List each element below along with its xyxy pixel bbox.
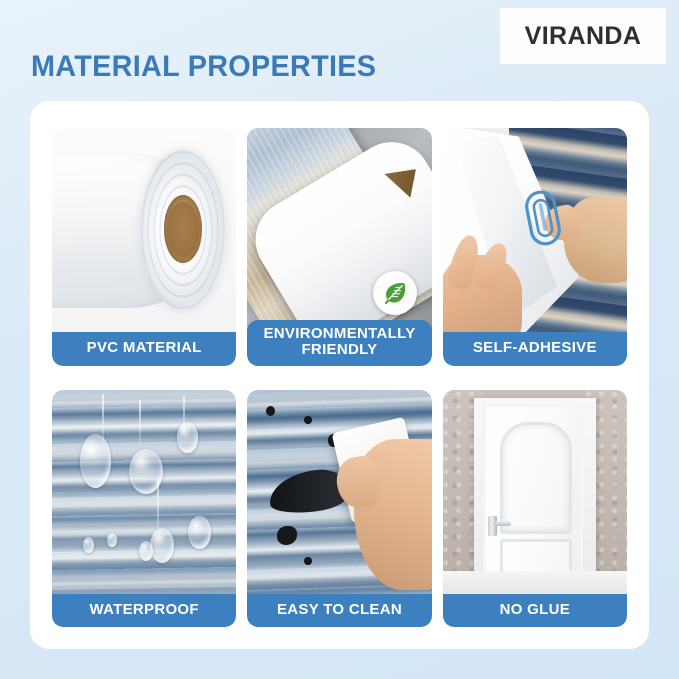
door-handle-shape [488, 516, 497, 536]
droplet-trail [102, 394, 104, 443]
water-droplet [107, 533, 116, 547]
pvc-roll-image [52, 128, 236, 332]
feature-label-line-1: ENVIRONMENTALLY [251, 326, 427, 342]
water-droplet [150, 528, 174, 563]
water-droplet [139, 541, 154, 561]
feature-card-easy-to-clean: EASY TO CLEAN [247, 390, 431, 628]
page-title: MATERIAL PROPERTIES [31, 50, 376, 84]
droplet-trail [139, 400, 141, 445]
water-droplet [129, 449, 162, 494]
feature-card-waterproof: WATERPROOF [52, 390, 236, 628]
rolled-wallpaper-image [247, 128, 431, 338]
peeling-wallpaper-image [443, 128, 627, 332]
water-droplet [177, 422, 197, 453]
feature-label-waterproof: WATERPROOF [52, 594, 236, 627]
water-droplets-image [52, 390, 236, 594]
feature-label-no-glue: NO GLUE [443, 594, 627, 627]
hand-shape [354, 439, 431, 590]
brand-logo: VIRANDA [500, 8, 666, 64]
feature-card-no-glue: NO GLUE [443, 390, 627, 628]
wiping-cloth-image [247, 390, 431, 594]
stain-spot [304, 416, 311, 424]
leaf-icon [373, 271, 417, 315]
feature-card-pvc-material: PVC MATERIAL [52, 128, 236, 366]
features-panel: PVC MATERIAL [30, 101, 649, 649]
feature-card-environmentally-friendly: ENVIRONMENTALLY FRIENDLY [247, 128, 431, 366]
feature-label-environmentally-friendly: ENVIRONMENTALLY FRIENDLY [247, 320, 431, 365]
feature-label-pvc-material: PVC MATERIAL [52, 332, 236, 365]
brand-name: VIRANDA [525, 22, 642, 51]
roll-core-inner-shape [167, 202, 198, 257]
feature-card-self-adhesive: SELF-ADHESIVE [443, 128, 627, 366]
white-door-image [443, 390, 627, 594]
water-droplet [83, 537, 94, 553]
infographic-page: VIRANDA MATERIAL PROPERTIES PVC MATERIAL [0, 0, 679, 679]
water-droplet [188, 516, 210, 549]
stain-spot [266, 406, 275, 416]
feature-label-self-adhesive: SELF-ADHESIVE [443, 332, 627, 365]
feature-label-easy-to-clean: EASY TO CLEAN [247, 594, 431, 627]
hand-left-shape [443, 255, 522, 333]
feature-label-line-2: FRIENDLY [251, 342, 427, 358]
skirting-board-shape [443, 571, 627, 593]
stain-spot [277, 526, 297, 544]
features-grid: PVC MATERIAL [52, 128, 627, 627]
door-panel-top-shape [500, 422, 572, 534]
stain-spot [304, 557, 311, 565]
water-droplet [80, 434, 111, 487]
